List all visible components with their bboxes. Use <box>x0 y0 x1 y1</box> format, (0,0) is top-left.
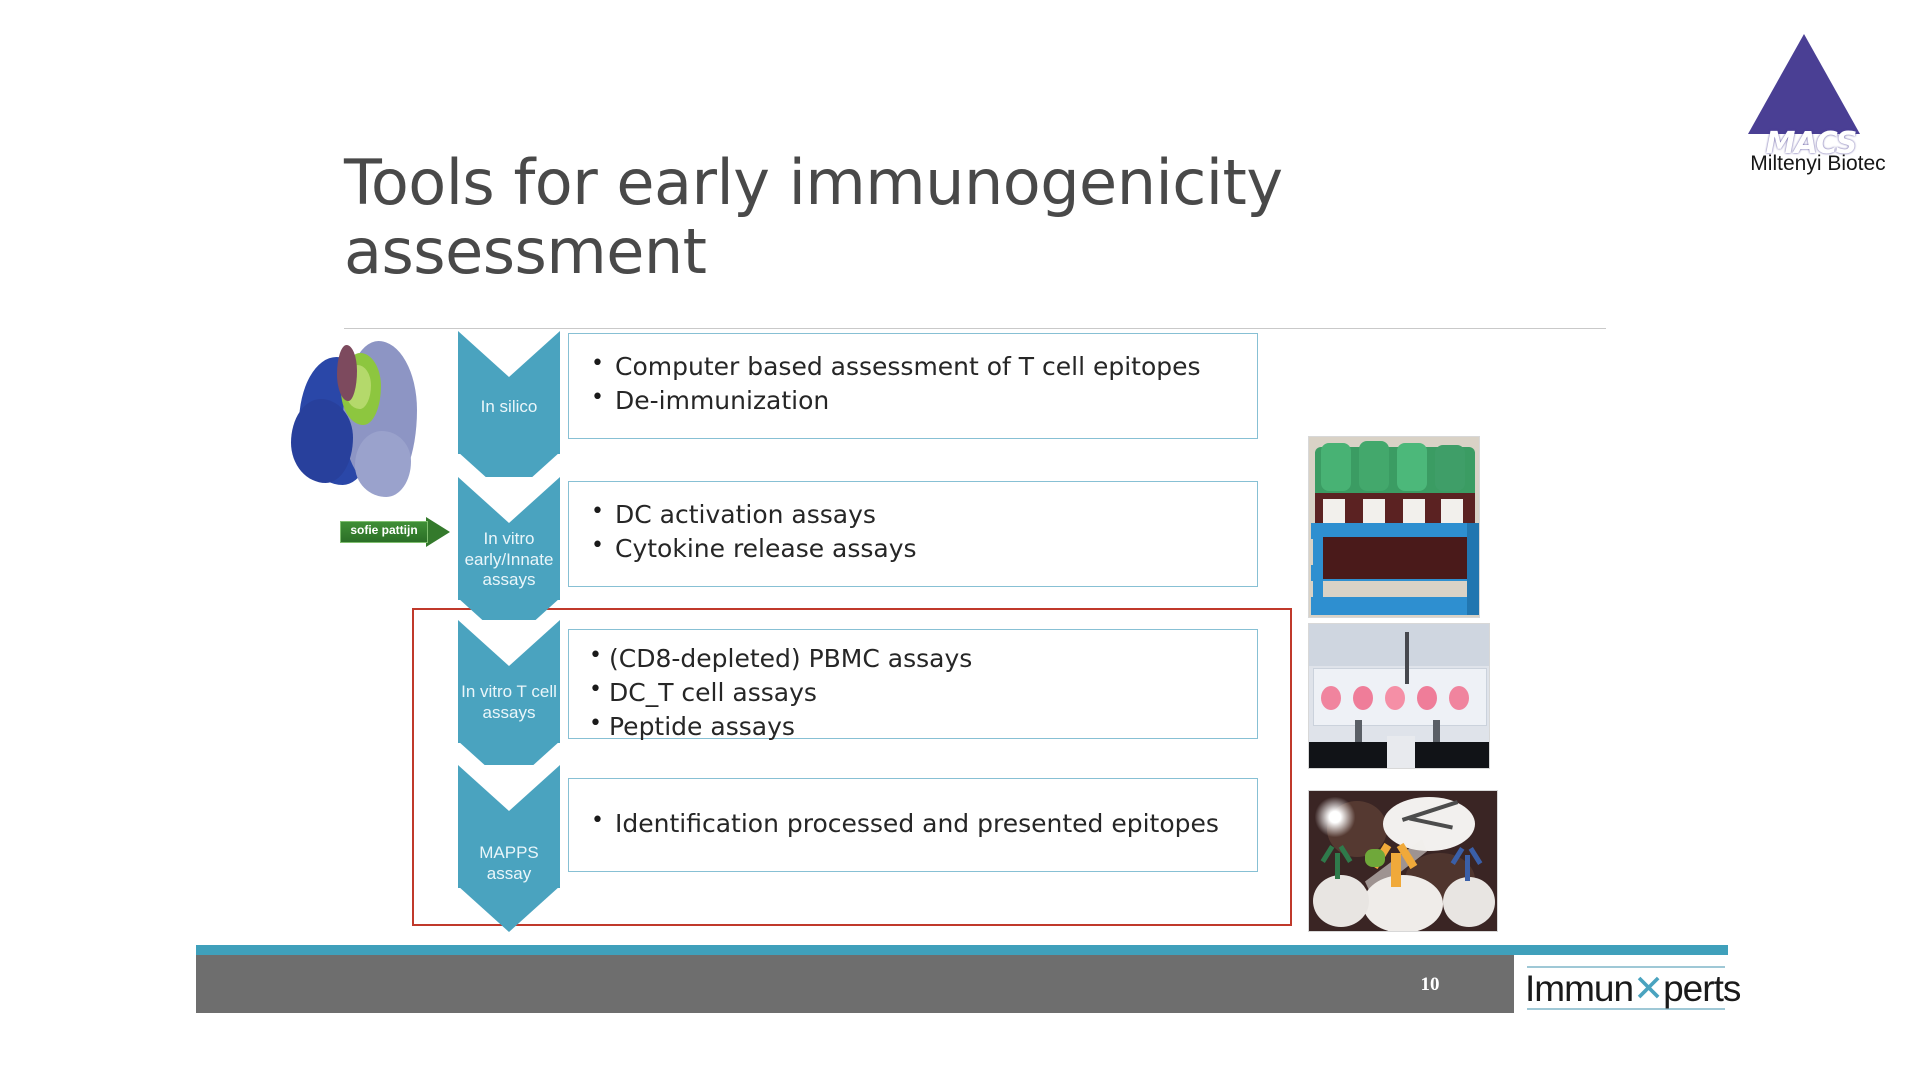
arrow-head-icon <box>426 517 450 547</box>
page-number: 10 <box>1400 974 1460 996</box>
flow-stage-chevron-in-silico[interactable]: In silico <box>458 331 560 454</box>
immunxperts-logo: Immun✕perts <box>1525 962 1727 1014</box>
macs-miltenyi-logo: MACS Miltenyi Biotec <box>1718 34 1918 164</box>
chevron-notch <box>458 477 560 523</box>
annotation-label: sofie pattijn <box>340 523 428 537</box>
list-item: DC activation assays <box>589 498 1257 532</box>
chevron-label: In vitro early/Innate assays <box>458 529 560 591</box>
antibody-bead-illustration <box>1308 790 1498 932</box>
bullet-list: Computer based assessment of T cell epit… <box>589 350 1257 418</box>
flow-stage-chevron-mapps[interactable]: MAPPS assay <box>458 765 560 888</box>
wordmark-part-1: Immun <box>1525 968 1633 1009</box>
list-item: (CD8-depleted) PBMC assays <box>589 642 1257 676</box>
list-item: Peptide assays <box>589 710 1257 744</box>
immunxperts-wordmark: Immun✕perts <box>1525 967 1727 1010</box>
chevron-notch <box>458 765 560 811</box>
flow-content-box-innate: DC activation assays Cytokine release as… <box>568 481 1258 587</box>
list-item: Identification processed and presented e… <box>589 807 1257 841</box>
blood-tubes-photo <box>1308 436 1480 618</box>
footer-bar <box>196 955 1514 1013</box>
chevron-notch <box>458 620 560 666</box>
miltenyi-biotec-label: Miltenyi Biotec <box>1718 152 1918 176</box>
list-item: Cytokine release assays <box>589 532 1257 566</box>
chevron-label: In vitro T cell assays <box>458 682 560 723</box>
bullet-list: DC activation assays Cytokine release as… <box>589 498 1257 566</box>
slide-canvas: MACS Miltenyi Biotec Tools for early imm… <box>0 0 1920 1080</box>
flow-content-box-t-cell: (CD8-depleted) PBMC assays DC_T cell ass… <box>568 629 1258 739</box>
flow-content-box-mapps: Identification processed and presented e… <box>568 778 1258 872</box>
flow-stage-chevron-in-vitro-t-cell[interactable]: In vitro T cell assays <box>458 620 560 743</box>
x-mark-icon: ✕ <box>1633 968 1663 1009</box>
wordmark-part-2: perts <box>1663 968 1740 1009</box>
protein-structure-image <box>285 335 425 510</box>
chevron-label: In silico <box>458 397 560 418</box>
slide-title: Tools for early immunogenicity assessmen… <box>344 148 1344 287</box>
bullet-list: (CD8-depleted) PBMC assays DC_T cell ass… <box>589 642 1257 744</box>
sofie-pattijn-annotation-arrow: sofie pattijn <box>340 519 450 545</box>
flow-stage-chevron-in-vitro-innate[interactable]: In vitro early/Innate assays <box>458 477 560 600</box>
macs-triangle-icon <box>1748 34 1860 134</box>
list-item: Computer based assessment of T cell epit… <box>589 350 1257 384</box>
footer-accent-bar <box>196 945 1728 955</box>
title-divider <box>344 328 1606 329</box>
list-item: De-immunization <box>589 384 1257 418</box>
list-item: DC_T cell assays <box>589 676 1257 710</box>
microplate-photo <box>1308 623 1490 769</box>
bullet-list: Identification processed and presented e… <box>589 807 1257 841</box>
chevron-notch <box>458 331 560 377</box>
chevron-label: MAPPS assay <box>458 843 560 884</box>
flow-content-box-in-silico: Computer based assessment of T cell epit… <box>568 333 1258 439</box>
